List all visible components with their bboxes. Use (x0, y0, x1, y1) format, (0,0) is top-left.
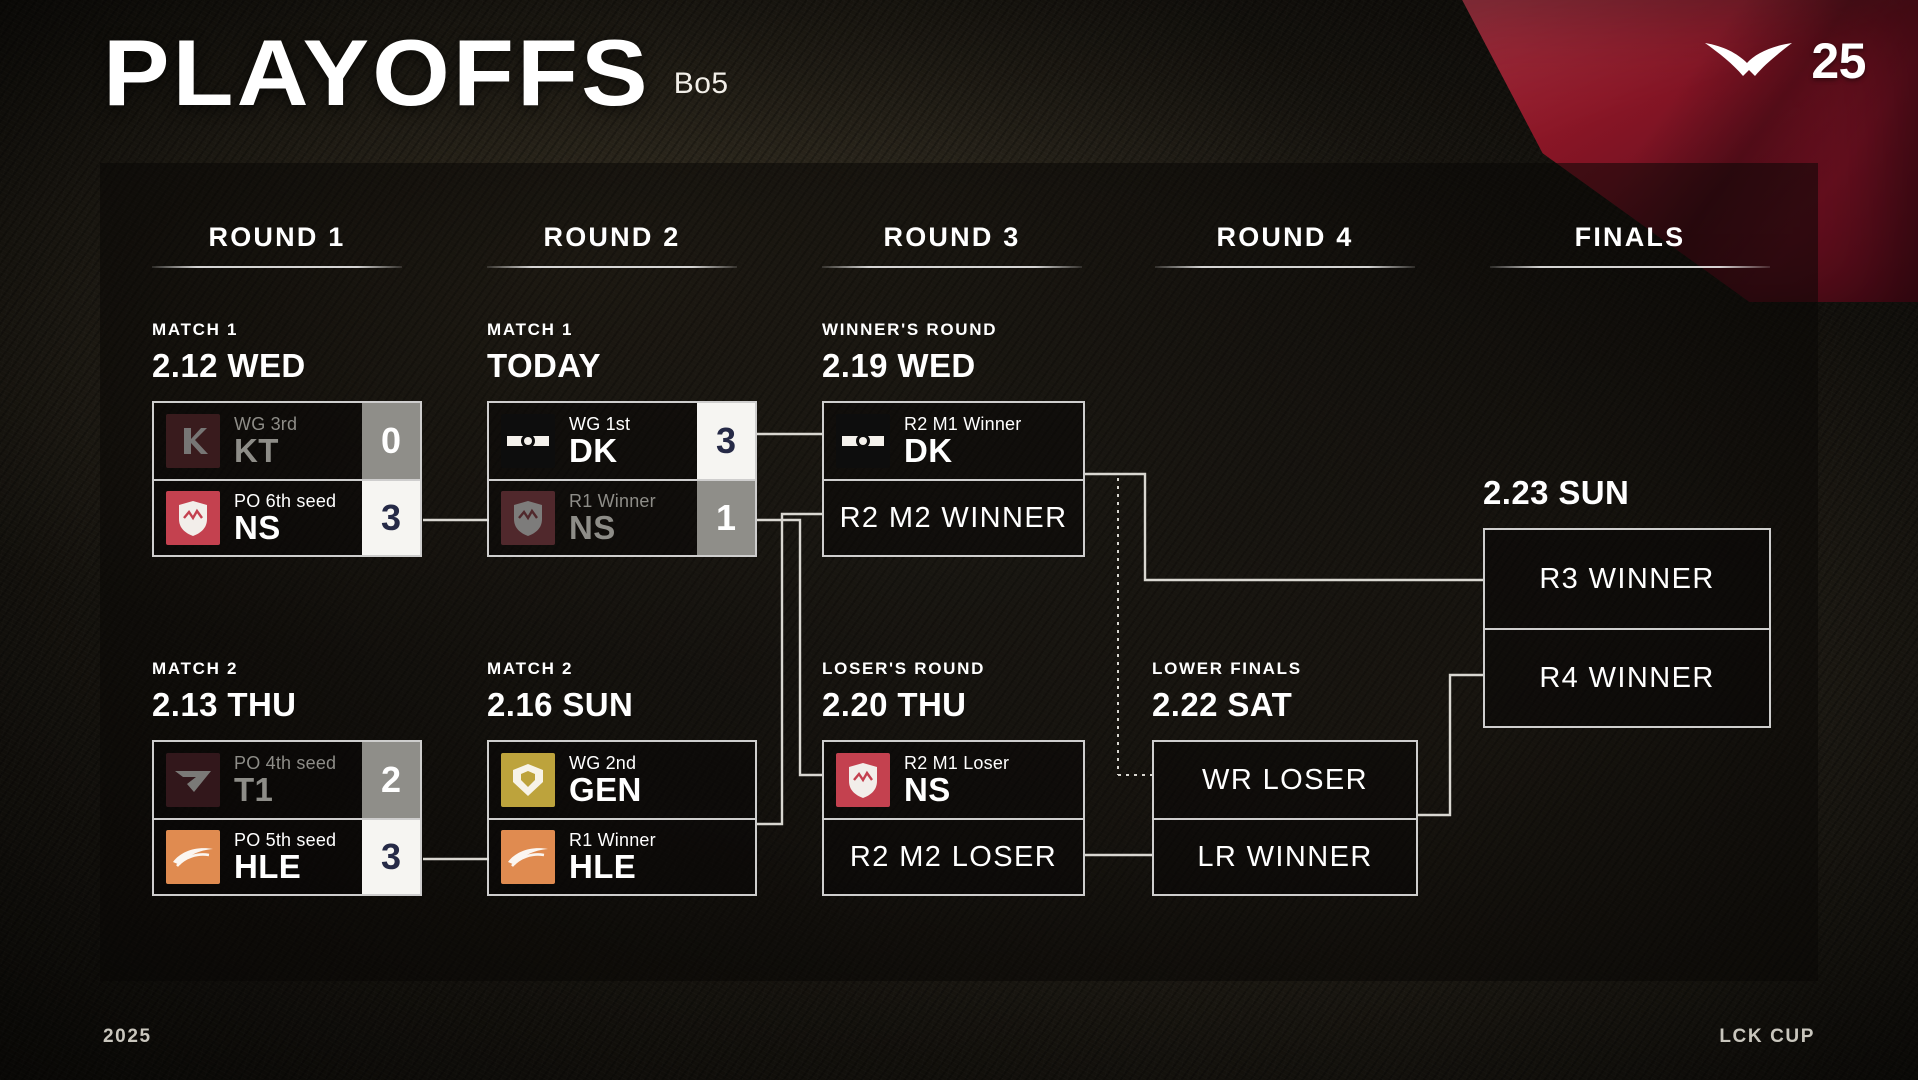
placeholder-label: R2 M2 LOSER (824, 841, 1083, 874)
match-stage-label: MATCH 2 (152, 659, 422, 679)
match-stage-label: LOSER'S ROUND (822, 659, 1085, 679)
round-header-rule (152, 266, 402, 268)
hanwha-life-logo (166, 830, 220, 884)
round-header-label: FINALS (1490, 222, 1770, 253)
round-header-rule (1490, 266, 1770, 268)
title-row: PLAYOFFS Bo5 (103, 28, 729, 117)
team-row[interactable]: PO 5th seed HLE 3 (154, 818, 420, 894)
round-header-label: ROUND 1 (152, 222, 402, 253)
team-name: NS (569, 511, 656, 545)
brand-year: 25 (1811, 36, 1866, 86)
team-row-placeholder[interactable]: R3 WINNER (1485, 530, 1769, 628)
team-row[interactable]: R2 M1 Winner DK (824, 403, 1083, 479)
match-group-r1m1: MATCH 1 2.12 WED WG 3rd KT 0 (152, 320, 422, 557)
team-row[interactable]: PO 6th seed NS 3 (154, 479, 420, 555)
round-header-label: ROUND 4 (1155, 222, 1415, 253)
team-row[interactable]: R2 M1 Loser NS (824, 742, 1083, 818)
placeholder-label: WR LOSER (1154, 764, 1416, 797)
match-group-r1m2: MATCH 2 2.13 THU PO 4th seed T1 2 (152, 659, 422, 896)
match-group-losers-round: LOSER'S ROUND 2.20 THU R2 M1 Loser NS R2… (822, 659, 1085, 896)
match-stage-label: MATCH 1 (487, 320, 757, 340)
team-row-placeholder[interactable]: R2 M2 LOSER (824, 818, 1083, 894)
hanwha-life-logo (501, 830, 555, 884)
placeholder-label: R4 WINNER (1485, 662, 1769, 695)
team-row[interactable]: PO 4th seed T1 2 (154, 742, 420, 818)
team-row[interactable]: R1 Winner HLE (489, 818, 755, 894)
match-date-label: 2.22 SAT (1152, 686, 1418, 724)
placeholder-label: LR WINNER (1154, 841, 1416, 874)
match-stage-label: MATCH 2 (487, 659, 757, 679)
footer-event-name: LCK CUP (1719, 1026, 1815, 1048)
round-header-3: ROUND 3 (822, 222, 1082, 268)
nongshim-redforce-logo (501, 491, 555, 545)
match-box[interactable]: WG 2nd GEN R1 Winner HLE (487, 740, 757, 896)
team-name: NS (234, 511, 336, 545)
team-name: NS (904, 773, 1009, 807)
match-date-label: 2.13 THU (152, 686, 422, 724)
team-row[interactable]: WG 1st DK 3 (489, 403, 755, 479)
match-group-r2m2: MATCH 2 2.16 SUN WG 2nd GEN (487, 659, 757, 896)
match-box[interactable]: R3 WINNER R4 WINNER (1483, 528, 1771, 728)
team-row[interactable]: WG 3rd KT 0 (154, 403, 420, 479)
placeholder-label: R2 M2 WINNER (824, 502, 1083, 535)
round-header-4: ROUND 4 (1155, 222, 1415, 268)
team-score: 3 (362, 481, 420, 555)
footer-year: 2025 (103, 1026, 152, 1048)
placeholder-label: R3 WINNER (1485, 563, 1769, 596)
team-name: HLE (234, 850, 336, 884)
match-box[interactable]: R2 M1 Winner DK R2 M2 WINNER (822, 401, 1085, 557)
team-score: 0 (362, 403, 420, 479)
round-header-rule (487, 266, 737, 268)
team-score: 3 (697, 403, 755, 479)
team-name: HLE (569, 850, 656, 884)
team-score: 1 (697, 481, 755, 555)
team-name: KT (234, 434, 297, 468)
match-date-label: 2.12 WED (152, 347, 422, 385)
match-stage-label: MATCH 1 (152, 320, 422, 340)
match-group-r2m1: MATCH 1 TODAY WG 1st DK 3 (487, 320, 757, 557)
match-box[interactable]: WG 1st DK 3 R1 Winner NS 1 (487, 401, 757, 557)
match-box[interactable]: WG 3rd KT 0 PO 6th seed NS 3 (152, 401, 422, 557)
team-name: DK (569, 434, 630, 468)
round-header-finals: FINALS (1490, 222, 1770, 268)
team-row-placeholder[interactable]: WR LOSER (1154, 742, 1416, 818)
match-box[interactable]: WR LOSER LR WINNER (1152, 740, 1418, 896)
match-date-label: TODAY (487, 347, 757, 385)
team-row[interactable]: WG 2nd GEN (489, 742, 755, 818)
nongshim-redforce-logo (166, 491, 220, 545)
team-row-placeholder[interactable]: R4 WINNER (1485, 628, 1769, 726)
match-date-label: 2.20 THU (822, 686, 1085, 724)
dplus-kia-logo (836, 414, 890, 468)
match-box[interactable]: PO 4th seed T1 2 PO 5th seed HLE 3 (152, 740, 422, 896)
match-stage-label: WINNER'S ROUND (822, 320, 1085, 340)
match-group-finals: 2.23 SUN R3 WINNER R4 WINNER (1483, 474, 1771, 728)
round-header-rule (822, 266, 1082, 268)
team-row-placeholder[interactable]: R2 M2 WINNER (824, 479, 1083, 555)
round-header-1: ROUND 1 (152, 222, 402, 268)
lck-brand-mark: 25 (1703, 36, 1866, 86)
team-name: T1 (234, 773, 336, 807)
kt-rolster-logo (166, 414, 220, 468)
match-date-label: 2.16 SUN (487, 686, 757, 724)
t1-logo (166, 753, 220, 807)
team-row-placeholder[interactable]: LR WINNER (1154, 818, 1416, 894)
team-name: DK (904, 434, 1021, 468)
team-row[interactable]: R1 Winner NS 1 (489, 479, 755, 555)
page-title: PLAYOFFS (103, 28, 651, 117)
nongshim-redforce-logo (836, 753, 890, 807)
match-box[interactable]: R2 M1 Loser NS R2 M2 LOSER (822, 740, 1085, 896)
match-group-winners-round: WINNER'S ROUND 2.19 WED R2 M1 Winner DK … (822, 320, 1085, 557)
bracket-screen: 25 PLAYOFFS Bo5 ROUND 1 ROUND 2 ROUND 3 … (0, 0, 1918, 1080)
dplus-kia-logo (501, 414, 555, 468)
round-header-label: ROUND 3 (822, 222, 1082, 253)
team-name: GEN (569, 773, 642, 807)
match-date-label: 2.19 WED (822, 347, 1085, 385)
gen-g-logo (501, 753, 555, 807)
round-header-label: ROUND 2 (487, 222, 737, 253)
round-header-2: ROUND 2 (487, 222, 737, 268)
lck-wing-icon (1703, 37, 1795, 85)
match-stage-label: LOWER FINALS (1152, 659, 1418, 679)
team-score: 3 (362, 820, 420, 894)
round-header-rule (1155, 266, 1415, 268)
team-score: 2 (362, 742, 420, 818)
match-group-lower-finals: LOWER FINALS 2.22 SAT WR LOSER LR WINNER (1152, 659, 1418, 896)
series-format-label: Bo5 (674, 67, 729, 117)
match-date-label: 2.23 SUN (1483, 474, 1771, 512)
